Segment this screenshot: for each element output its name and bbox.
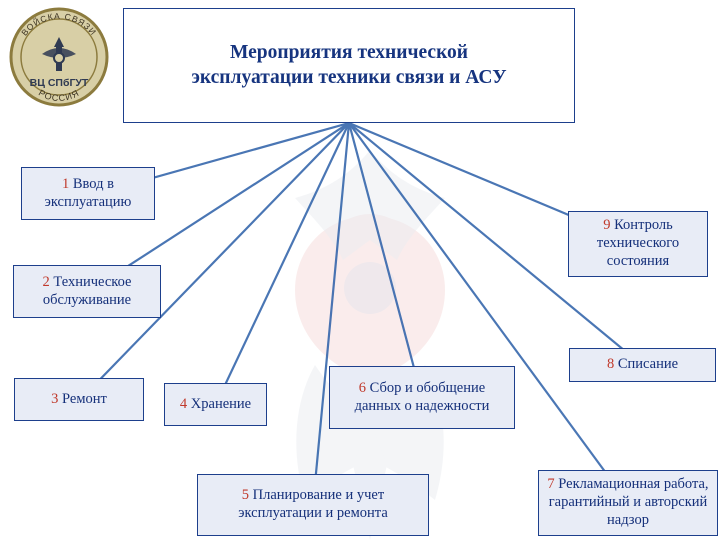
node-label-5: Планирование и учет эксплуатации и ремон… [238,487,388,521]
node-number-7: 7 [547,476,554,492]
node-number-6: 6 [359,380,366,396]
node-label-2: Техническое обслуживание [43,274,132,308]
node-number-8: 8 [607,356,614,372]
node-box-7[interactable]: 7 Рекламационная работа, гарантийный и а… [538,470,718,536]
diagram-canvas: ВОЙСКА СВЯЗИ РОССИЯ ВЦ СПбГУТ Мероприяти… [0,0,720,540]
node-box-1[interactable]: 1 Ввод в эксплуатацию [21,167,155,220]
node-box-3[interactable]: 3 Ремонт [14,378,144,421]
title-line-2: эксплуатации техники связи и АСУ [191,66,506,90]
node-label-4: Хранение [191,396,251,412]
node-box-2[interactable]: 2 Техническое обслуживание [13,265,161,318]
node-label-3: Ремонт [62,391,107,407]
node-box-9[interactable]: 9 Контроль технического состояния [568,211,708,277]
title-line-1: Мероприятия технической [191,41,506,65]
node-box-8[interactable]: 8 Списание [569,348,716,382]
node-number-4: 4 [180,396,187,412]
node-box-6[interactable]: 6 Сбор и обобщение данных о надежности [329,366,515,429]
node-box-4[interactable]: 4 Хранение [164,383,267,426]
node-number-2: 2 [43,274,50,290]
node-number-9: 9 [603,217,610,233]
node-number-3: 3 [51,391,58,407]
node-label-9: Контроль технического состояния [597,217,679,268]
node-label-7: Рекламационная работа, гарантийный и авт… [549,476,709,527]
node-label-6: Сбор и обобщение данных о надежности [355,380,490,414]
node-label-1: Ввод в эксплуатацию [45,176,132,210]
node-number-5: 5 [242,487,249,503]
node-label-8: Списание [618,356,678,372]
diagram-title-box: Мероприятия технической эксплуатации тех… [123,8,575,123]
node-box-5[interactable]: 5 Планирование и учет эксплуатации и рем… [197,474,429,536]
node-number-1: 1 [62,176,69,192]
